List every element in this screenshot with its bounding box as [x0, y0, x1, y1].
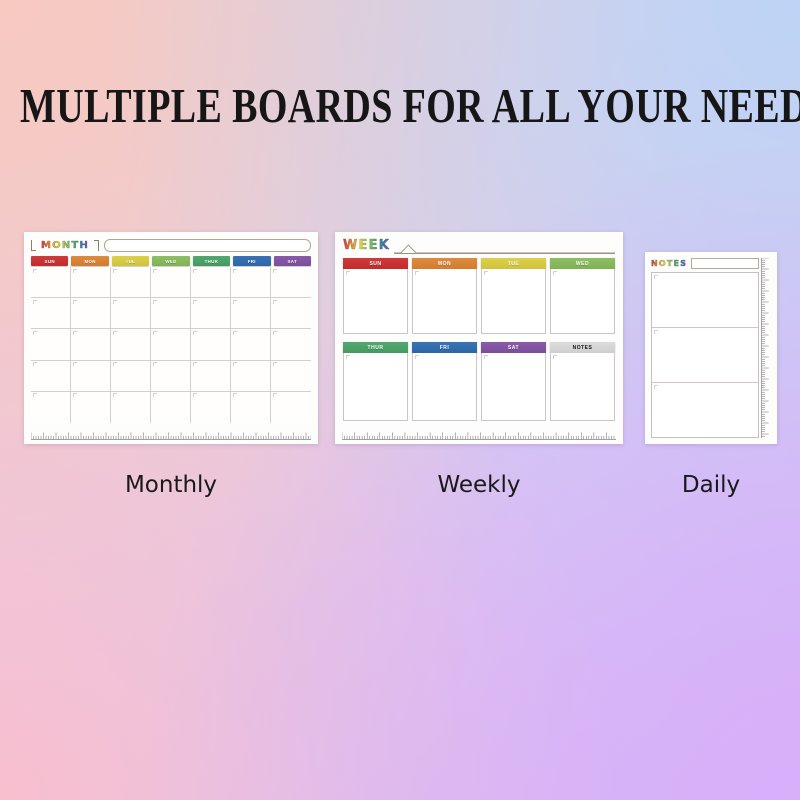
month-name-input[interactable] — [104, 239, 311, 252]
table-row[interactable] — [271, 298, 311, 329]
table-row[interactable] — [31, 361, 71, 392]
table-row[interactable] — [191, 329, 231, 360]
daily-sections[interactable] — [651, 272, 759, 438]
table-row[interactable] — [271, 361, 311, 392]
weekly-title: WEEK — [343, 238, 390, 254]
weekly-column-sun: SUN — [343, 258, 408, 334]
weekly-header-row: WEEK — [343, 236, 615, 254]
table-row[interactable] — [231, 361, 271, 392]
table-row[interactable] — [231, 298, 271, 329]
daily-section[interactable] — [652, 383, 758, 437]
table-row[interactable] — [151, 329, 191, 360]
daily-section[interactable] — [652, 273, 758, 328]
table-row[interactable] — [151, 298, 191, 329]
weekly-column-sat: SAT — [481, 342, 546, 421]
monthly-day-header-sat: SAT — [274, 256, 311, 266]
table-row[interactable] — [111, 361, 151, 392]
table-row[interactable] — [191, 392, 231, 423]
weekly-header-sun: SUN — [343, 258, 408, 269]
weekly-column-mon: MON — [412, 258, 477, 334]
monthly-day-header-fri: FRI — [233, 256, 270, 266]
weekly-cell-sat[interactable] — [481, 353, 546, 421]
table-row[interactable] — [151, 267, 191, 298]
table-row[interactable] — [111, 298, 151, 329]
ruler-horizontal-monthly — [31, 427, 311, 440]
weekly-header-tue: TUE — [481, 258, 546, 269]
caption-weekly: Weekly — [335, 472, 623, 498]
monthly-day-header-wed: WED — [152, 256, 189, 266]
weekly-cell-mon[interactable] — [412, 269, 477, 334]
table-row[interactable] — [231, 329, 271, 360]
table-row[interactable] — [31, 392, 71, 423]
table-row[interactable] — [231, 392, 271, 423]
weekly-row-two: THURFRISATNOTES — [343, 342, 615, 421]
weekly-column-tue: TUE — [481, 258, 546, 334]
weekly-column-notes: NOTES — [550, 342, 615, 421]
monthly-day-header-sun: SUN — [31, 256, 68, 266]
daily-header-row: NOTES — [651, 257, 759, 269]
table-row[interactable] — [271, 392, 311, 423]
monthly-date-grid[interactable] — [31, 267, 311, 423]
table-row[interactable] — [151, 392, 191, 423]
weekly-header-thur: THUR — [343, 342, 408, 353]
bracket-right-icon — [94, 240, 99, 251]
weekly-cell-sun[interactable] — [343, 269, 408, 334]
monthly-day-header-mon: MON — [71, 256, 108, 266]
daily-note-input[interactable] — [691, 258, 759, 269]
table-row[interactable] — [191, 267, 231, 298]
caption-monthly: Monthly — [24, 472, 318, 498]
table-row[interactable] — [271, 267, 311, 298]
weekly-board-inner: WEEK SUNMONTUEWED THURFRISATNOTES — [335, 232, 623, 444]
monthly-day-header-thur: THUR — [193, 256, 230, 266]
weekly-cell-notes[interactable] — [550, 353, 615, 421]
table-row[interactable] — [191, 298, 231, 329]
monthly-board[interactable]: MONTH SUNMONTUEWEDTHURFRISAT — [24, 232, 318, 444]
weekly-row-one: SUNMONTUEWED — [343, 258, 615, 334]
table-row[interactable] — [111, 392, 151, 423]
table-row[interactable] — [111, 267, 151, 298]
monthly-day-header-row: SUNMONTUEWEDTHURFRISAT — [31, 256, 311, 266]
weekly-header-fri: FRI — [412, 342, 477, 353]
table-row[interactable] — [71, 298, 111, 329]
monthly-day-header-tue: TUE — [112, 256, 149, 266]
table-row[interactable] — [31, 267, 71, 298]
poster-canvas: MULTIPLE BOARDS FOR ALL YOUR NEEDS! MONT… — [0, 0, 800, 800]
weekly-cell-fri[interactable] — [412, 353, 477, 421]
weekly-cell-tue[interactable] — [481, 269, 546, 334]
table-row[interactable] — [71, 392, 111, 423]
caption-daily: Daily — [645, 472, 777, 498]
weekly-header-wed: WED — [550, 258, 615, 269]
weekly-board[interactable]: WEEK SUNMONTUEWED THURFRISATNOTES — [335, 232, 623, 444]
weekly-header-mon: MON — [412, 258, 477, 269]
table-row[interactable] — [111, 329, 151, 360]
weekly-header-sat: SAT — [481, 342, 546, 353]
monthly-header-row: MONTH — [31, 237, 311, 253]
weekly-column-fri: FRI — [412, 342, 477, 421]
daily-board-inner: NOTES — [645, 252, 777, 444]
weekly-title-rule — [394, 241, 615, 254]
table-row[interactable] — [31, 329, 71, 360]
weekly-cell-wed[interactable] — [550, 269, 615, 334]
monthly-board-inner: MONTH SUNMONTUEWEDTHURFRISAT — [24, 232, 318, 444]
table-row[interactable] — [71, 361, 111, 392]
table-row[interactable] — [31, 298, 71, 329]
daily-title: NOTES — [651, 259, 687, 268]
table-row[interactable] — [191, 361, 231, 392]
table-row[interactable] — [271, 329, 311, 360]
weekly-header-notes: NOTES — [550, 342, 615, 353]
ruler-horizontal-weekly — [342, 427, 616, 440]
table-row[interactable] — [151, 361, 191, 392]
daily-section[interactable] — [652, 328, 758, 383]
daily-board[interactable]: NOTES — [645, 252, 777, 444]
weekly-column-thur: THUR — [343, 342, 408, 421]
table-row[interactable] — [71, 267, 111, 298]
table-row[interactable] — [231, 267, 271, 298]
weekly-column-wed: WED — [550, 258, 615, 334]
ruler-vertical-daily — [761, 258, 774, 438]
weekly-cell-thur[interactable] — [343, 353, 408, 421]
bracket-left-icon — [31, 240, 36, 251]
monthly-title: MONTH — [41, 240, 89, 251]
page-title: MULTIPLE BOARDS FOR ALL YOUR NEEDS! — [20, 77, 780, 134]
table-row[interactable] — [71, 329, 111, 360]
